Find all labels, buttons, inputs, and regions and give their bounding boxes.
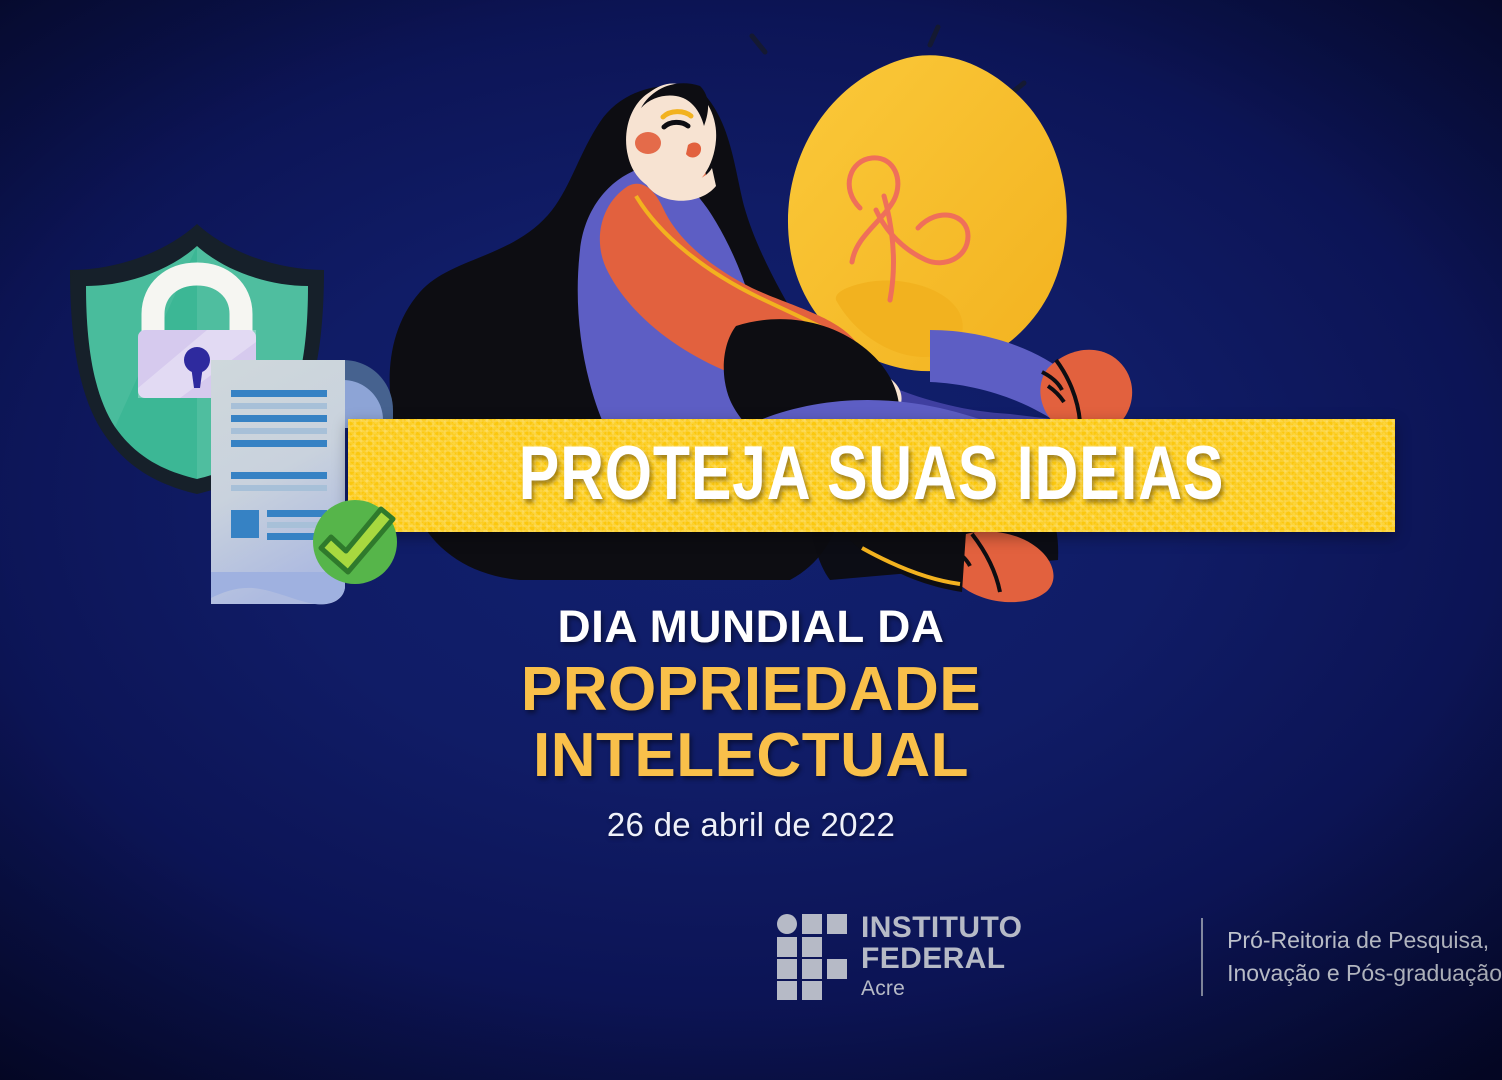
footer-logo-block: INSTITUTO FEDERAL Acre Pró-Reitoria de P… [777,912,1502,1001]
title-line-1: DIA MUNDIAL DA [0,604,1502,649]
title-line-2: PROPRIEDADE [0,659,1502,721]
department-line-2: Inovação e Pós-graduação [1227,957,1502,990]
institution-name: INSTITUTO FEDERAL [861,912,1171,974]
poster-canvas: PROTEJA SUAS IDEIAS DIA MUNDIAL DA PROPR… [0,0,1502,1080]
department-name: Pró-Reitoria de Pesquisa, Inovação e Pós… [1227,924,1502,989]
banner-ribbon: PROTEJA SUAS IDEIAS [348,419,1395,532]
title-line-3: INTELECTUAL [0,725,1502,787]
green-check-badge-icon [305,488,405,588]
department-line-1: Pró-Reitoria de Pesquisa, [1227,924,1502,957]
if-grid-logo-icon [777,914,849,1000]
event-date: 26 de abril de 2022 [0,806,1502,844]
banner-headline: PROTEJA SUAS IDEIAS [453,419,1291,532]
logo-divider [1201,918,1203,996]
page-title-block: DIA MUNDIAL DA PROPRIEDADE INTELECTUAL [0,604,1502,787]
campus-name: Acre [861,977,1171,1001]
if-logo-wordmark: INSTITUTO FEDERAL Acre [861,912,1171,1001]
